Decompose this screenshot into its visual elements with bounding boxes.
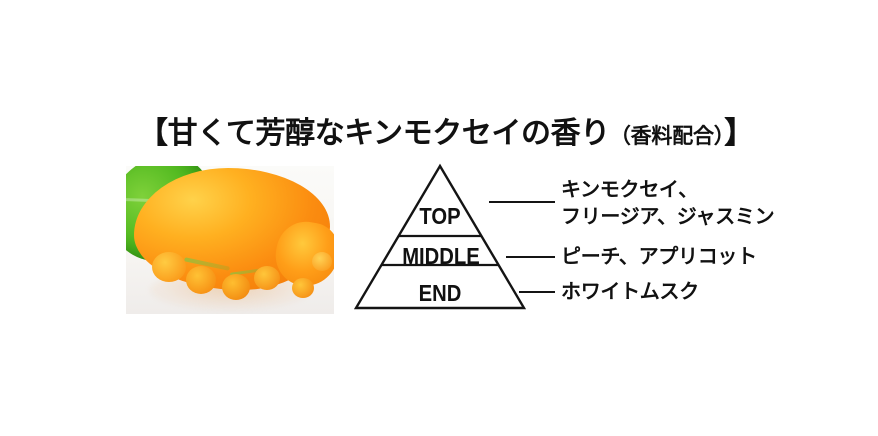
floret [292,278,314,298]
floret [312,252,332,271]
leader-line-end [519,291,555,293]
pyramid-tier-label-middle: MIDDLE [382,243,500,270]
note-text-end: ホワイトムスク [561,278,699,305]
osmanthus-flower-photo [126,166,334,314]
title-main-text: 甘くて芳醇なキンモクセイの香り [168,116,610,151]
leader-line-top [489,201,555,203]
floret [222,274,250,300]
fragrance-pyramid-banner: 【甘くて芳醇なキンモクセイの香り（香料配合）】 TOP MIDDLE END キ… [0,0,878,436]
note-text-top: キンモクセイ、 フリージア、ジャスミン [561,176,774,230]
pyramid-tier-label-top: TOP [408,203,471,230]
floret [152,252,186,282]
note-text-middle: ピーチ、アプリコット [561,243,757,270]
leader-line-middle [506,256,555,258]
title-sub-text: （香料配合） [610,124,724,148]
page-title: 【甘くて芳醇なキンモクセイの香り（香料配合）】 [138,116,754,154]
note-top-line-2: フリージア、ジャスミン [561,203,774,230]
pyramid-tier-label-end: END [401,280,478,307]
floret [254,266,280,290]
floret [186,266,216,294]
title-bracket-open: 【 [138,116,168,151]
title-bracket-close: 】 [724,116,754,151]
note-top-line-1: キンモクセイ、 [561,176,774,203]
